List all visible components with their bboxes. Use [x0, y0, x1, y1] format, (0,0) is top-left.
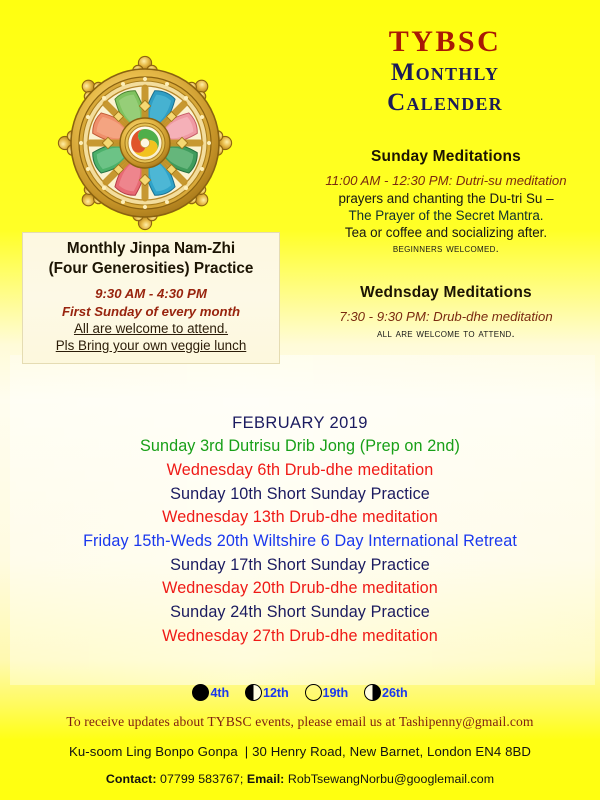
sunday-beginners-note: BEGINNERS WELCOMED. [300, 243, 592, 255]
moon-phase-item: 4th [192, 684, 229, 701]
calendar-month-heading: FEBRUARY 2019 [0, 412, 600, 435]
jinpa-welcome-note: All are welcome to attend. [27, 320, 275, 337]
calendar-entry: Friday 15th-Weds 20th Wiltshire 6 Day In… [0, 530, 600, 554]
sunday-meditations-section: Sunday Meditations 11:00 AM - 12:30 PM: … [300, 148, 592, 255]
moon-phase-label: 12th [263, 686, 289, 700]
calendar-entry: Wednesday 13th Drub-dhe meditation [0, 506, 600, 530]
calendar-entry: Wednesday 6th Drub-dhe meditation [0, 459, 600, 483]
page-title: TYBSC [300, 26, 590, 58]
sunday-detail-line-2: The Prayer of the Secret Mantra. [300, 207, 592, 224]
jinpa-frequency: First Sunday of every month [27, 303, 275, 320]
footer-phone-number: 07799 583767; [160, 772, 243, 786]
footer-venue-name: Ku-soom Ling Bonpo Gonpa [69, 744, 238, 759]
footer-contact-label: Contact: [106, 772, 157, 786]
calendar-entry: Sunday 24th Short Sunday Practice [0, 601, 600, 625]
calendar-entry: Wednesday 20th Drub-dhe meditation [0, 577, 600, 601]
sunday-detail-line-3: Tea or coffee and socializing after. [300, 224, 592, 241]
dharma-wheel-icon [57, 55, 233, 231]
footer-email-label: Email: [247, 772, 284, 786]
poster-footer: To receive updates about TYBSC events, p… [0, 714, 600, 786]
page-subtitle-line2: Calender [300, 88, 590, 119]
moon-half-right-icon [364, 684, 381, 701]
wednesday-welcome-note: ALL ARE WELCOME TO ATTEND. [300, 328, 592, 340]
calendar-list: FEBRUARY 2019 Sunday 3rd Dutrisu Drib Jo… [0, 412, 600, 648]
footer-separator: | [245, 744, 249, 759]
moon-phase-label: 19th [323, 686, 349, 700]
footer-updates-line: To receive updates about TYBSC events, p… [0, 714, 600, 730]
moon-new-icon [192, 684, 209, 701]
calendar-entries: Sunday 3rd Dutrisu Drib Jong (Prep on 2n… [0, 435, 600, 648]
sunday-detail-line-1: prayers and chanting the Du-tri Su – [300, 190, 592, 207]
wednesday-time-line: 7:30 - 9:30 PM: Drub-dhe meditation [300, 309, 592, 326]
poster-title-block: TYBSC Monthly Calender [300, 26, 590, 119]
footer-address-line: Ku-soom Ling Bonpo Gonpa| 30 Henry Road,… [0, 744, 600, 759]
moon-phase-item: 26th [364, 684, 408, 701]
wednesday-meditations-section: Wednsday Meditations 7:30 - 9:30 PM: Dru… [300, 284, 592, 340]
moon-phase-label: 4th [210, 686, 229, 700]
jinpa-title-line-1: Monthly Jinpa Nam-Zhi [27, 239, 275, 259]
moon-full-icon [305, 684, 322, 701]
jinpa-lunch-note: Pls Bring your own veggie lunch [27, 337, 275, 354]
jinpa-practice-box: Monthly Jinpa Nam-Zhi (Four Generosities… [22, 232, 280, 364]
calendar-entry: Sunday 3rd Dutrisu Drib Jong (Prep on 2n… [0, 435, 600, 459]
jinpa-title: Monthly Jinpa Nam-Zhi (Four Generosities… [27, 239, 275, 279]
footer-contact-line: Contact: 07799 583767; Email: RobTsewang… [0, 772, 600, 786]
moon-phase-item: 19th [305, 684, 349, 701]
footer-email-address: RobTsewangNorbu@googlemail.com [288, 772, 494, 786]
jinpa-title-line-2: (Four Generosities) Practice [27, 259, 275, 279]
calendar-entry: Wednesday 27th Drub-dhe meditation [0, 625, 600, 649]
moon-half-left-icon [245, 684, 262, 701]
poster-canvas: TYBSC Monthly Calender Sunday Meditation… [0, 0, 600, 800]
moon-phase-label: 26th [382, 686, 408, 700]
footer-street-address: 30 Henry Road, New Barnet, London EN4 8B… [252, 744, 531, 759]
moon-phase-item: 12th [245, 684, 289, 701]
sunday-meditations-heading: Sunday Meditations [300, 148, 592, 166]
jinpa-time: 9:30 AM - 4:30 PM [27, 285, 275, 302]
moon-phase-legend: 4th12th19th26th [0, 684, 600, 701]
sunday-time-line: 11:00 AM - 12:30 PM: Dutri-su meditation [300, 173, 592, 190]
calendar-entry: Sunday 17th Short Sunday Practice [0, 554, 600, 578]
calendar-entry: Sunday 10th Short Sunday Practice [0, 483, 600, 507]
wednesday-meditations-heading: Wednsday Meditations [300, 284, 592, 302]
page-subtitle-line1: Monthly [300, 58, 590, 89]
